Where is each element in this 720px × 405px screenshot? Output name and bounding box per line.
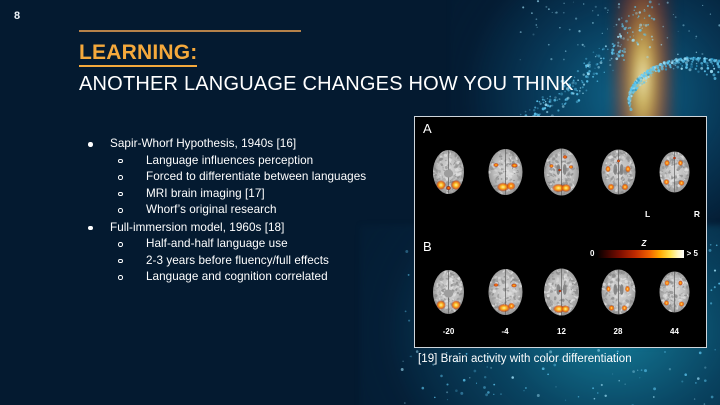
panel-b-letter: B xyxy=(423,239,432,254)
panel-a-letter: A xyxy=(423,121,432,136)
slice-coordinate: 28 xyxy=(591,327,646,336)
panel-a-slice-row xyxy=(421,141,702,203)
label-left-hemisphere: L xyxy=(645,209,650,219)
title-kicker: LEARNING: xyxy=(79,42,197,67)
bullet-text: Half-and-half language use xyxy=(146,236,288,253)
page-title: ANOTHER LANGUAGE CHANGES HOW YOU THINK xyxy=(79,73,619,95)
bullet-item-level1: Sapir-Whorf Hypothesis, 1940s [16] xyxy=(88,136,413,153)
brain-slice xyxy=(647,261,702,323)
slide-number: 8 xyxy=(14,10,20,22)
brain-slice xyxy=(421,141,476,203)
brain-slice xyxy=(421,261,476,323)
bullet-ring-icon xyxy=(118,236,146,247)
brain-slice xyxy=(478,141,533,203)
bullet-disc-icon xyxy=(88,220,110,231)
bullet-text: Full-immersion model, 1960s [18] xyxy=(110,220,284,237)
colorbar-min-label: 0 xyxy=(590,249,594,258)
label-right-hemisphere: R xyxy=(694,209,700,219)
title-block: LEARNING: ANOTHER LANGUAGE CHANGES HOW Y… xyxy=(79,30,619,95)
bullet-text: Language and cognition correlated xyxy=(146,269,328,286)
bullet-disc-icon xyxy=(88,136,110,147)
bullet-text: Language influences perception xyxy=(146,153,313,170)
bullet-list: Sapir-Whorf Hypothesis, 1940s [16]Langua… xyxy=(88,136,413,286)
bullet-ring-icon xyxy=(118,186,146,197)
bullet-text: 2-3 years before fluency/full effects xyxy=(146,253,329,270)
bullet-item-level2: Language and cognition correlated xyxy=(88,269,413,286)
z-colorbar: Z 0 > 5 xyxy=(590,239,698,258)
bullet-text: Forced to differentiate between language… xyxy=(146,169,366,186)
bullet-ring-icon xyxy=(118,169,146,180)
colorbar-title: Z xyxy=(590,239,698,248)
bullet-item-level2: MRI brain imaging [17] xyxy=(88,186,413,203)
slice-coordinate: -4 xyxy=(478,327,533,336)
bullet-item-level2: Half-and-half language use xyxy=(88,236,413,253)
slice-coordinate: -20 xyxy=(421,327,476,336)
figure-panel-b: B Z 0 > 5 -20 -4 12 28 xyxy=(415,235,706,348)
bullet-ring-icon xyxy=(118,202,146,213)
panel-b-slice-row xyxy=(421,261,702,323)
figure-panel-a: A L R xyxy=(415,117,706,235)
hemisphere-labels: L R xyxy=(645,209,700,219)
brain-slice xyxy=(647,141,702,203)
bullet-item-level2: Language influences perception xyxy=(88,153,413,170)
bullet-item-level2: Whorf’s original research xyxy=(88,202,413,219)
brain-imaging-figure: A L R B Z 0 > 5 xyxy=(414,116,707,348)
brain-slice xyxy=(591,141,646,203)
bullet-item-level1: Full-immersion model, 1960s [18] xyxy=(88,220,413,237)
colorbar-gradient xyxy=(597,250,683,258)
brain-slice xyxy=(591,261,646,323)
bullet-ring-icon xyxy=(118,269,146,280)
brain-slice xyxy=(478,261,533,323)
bullet-text: MRI brain imaging [17] xyxy=(146,186,265,203)
bullet-ring-icon xyxy=(118,253,146,264)
brain-slice xyxy=(534,261,589,323)
slice-coordinate: 12 xyxy=(534,327,589,336)
slice-coordinate-labels: -20 -4 12 28 44 xyxy=(421,327,702,336)
bullet-item-level2: Forced to differentiate between language… xyxy=(88,169,413,186)
bullet-text: Sapir-Whorf Hypothesis, 1940s [16] xyxy=(110,136,296,153)
figure-caption: [19] Brain activity with color different… xyxy=(418,353,632,365)
colorbar-max-label: > 5 xyxy=(687,249,698,258)
bullet-item-level2: 2-3 years before fluency/full effects xyxy=(88,253,413,270)
slide: 8 LEARNING: ANOTHER LANGUAGE CHANGES HOW… xyxy=(0,0,720,405)
title-divider-rule xyxy=(79,30,301,32)
slice-coordinate: 44 xyxy=(647,327,702,336)
bullet-text: Whorf’s original research xyxy=(146,202,277,219)
bullet-ring-icon xyxy=(118,153,146,164)
brain-slice xyxy=(534,141,589,203)
